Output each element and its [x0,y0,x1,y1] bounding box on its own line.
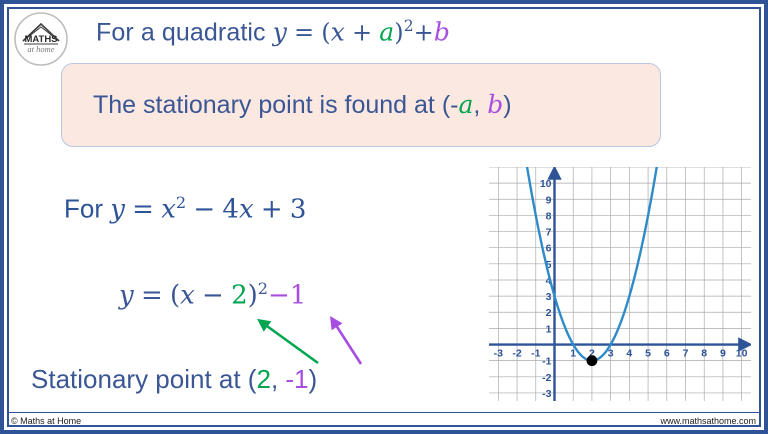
x-axis-tick-label: 5 [645,348,651,360]
title-y: y [273,17,287,46]
stat-lead: Stationary point at ( [31,364,256,394]
eqfor-x2: x [239,195,254,225]
x-axis-tick-label: -1 [531,348,540,360]
eqv-close-paren: ) [248,281,258,311]
y-axis-tick-label: 10 [540,178,552,190]
equation-standard-form: For y = x2 − 4x + 3 [64,193,306,225]
stationary-point-marker [587,355,598,366]
title-x: x [331,17,345,46]
x-axis-tick-label: -2 [512,348,521,360]
eqfor-four: 4 [222,195,239,225]
arrow-to-green-two [260,321,318,363]
title-lead: For a quadratic [96,18,273,46]
title-exponent: 2 [404,17,414,35]
y-axis-tick-label: 7 [546,227,552,239]
eqv-minus: − [202,281,224,311]
eqfor-equals: = [132,195,154,225]
eqv-equals: = [141,281,163,311]
logo-line2: at home [27,44,54,54]
stationary-point-answer: Stationary point at (2, -1) [31,364,317,395]
slide-title: For a quadratic y = (x + a)2+b [96,17,450,47]
y-axis-tick-label: 9 [546,194,552,206]
slide-canvas: MATHS at home For a quadratic y = (x + a… [0,0,768,434]
stationary-point-callout: The stationary point is found at (-a, b) [61,63,661,147]
callout-text: The stationary point is found at (-a, b) [93,90,512,120]
eqv-y: y [119,281,134,311]
callout-comma: , [473,91,487,119]
x-axis-tick-label: -3 [494,348,503,360]
callout-b: b [487,90,503,119]
x-axis-tick-label: 4 [626,348,632,360]
callout-a: a [458,90,473,119]
arrow-to-purple-minus-one [332,319,361,364]
title-a: a [379,17,394,46]
title-b: b [434,17,450,46]
callout-close: ) [503,91,511,119]
stat-comma: , [271,364,285,394]
footer-website: www.mathsathome.com [660,416,756,426]
title-open-paren: ( [321,18,330,46]
stat-close: ) [309,364,318,394]
footer-divider [9,412,759,413]
eqfor-x: x [161,195,176,225]
eqfor-minus: − [193,195,215,225]
x-axis-tick-label: 8 [701,348,707,360]
y-axis-tick-label: 1 [546,323,552,335]
y-axis-tick-label: 8 [546,210,552,222]
y-axis-tick-label: -3 [542,388,551,400]
x-axis-tick-label: 10 [736,348,748,360]
title-plus2: + [414,18,434,46]
eqv-minus-one: −1 [268,281,306,311]
callout-lead: The stationary point is found at (- [93,91,458,119]
eqfor-y: y [110,195,125,225]
parabola-graph: -3-2-11234567891010987654321-1-2-3 [489,167,751,401]
y-axis-tick-label: 6 [546,243,552,255]
stat-x-value: 2 [256,364,270,394]
x-axis-tick-label: 7 [683,348,689,360]
title-close-paren: ) [394,18,403,46]
title-equals: = [294,18,314,46]
footer-copyright: © Maths at Home [11,416,81,426]
eqv-two: 2 [231,281,248,311]
x-axis-tick-label: 6 [664,348,670,360]
title-plus: + [352,18,372,46]
eqv-x: x [180,281,195,311]
parabola-plot: -3-2-11234567891010987654321-1-2-3 [489,167,751,401]
eqfor-plus: + [261,195,283,225]
x-axis-tick-label: 9 [720,348,726,360]
equation-completed-square: y = (x − 2)2−1 [119,279,306,311]
eqv-open-paren: ( [170,281,180,311]
y-axis-tick-label: 3 [546,291,552,303]
maths-at-home-logo: MATHS at home [13,11,69,67]
eqfor-lead: For [64,194,110,224]
eqfor-three: 3 [290,195,307,225]
y-axis-tick-label: -1 [542,356,551,368]
y-axis-tick-label: 2 [546,307,552,319]
y-axis-tick-label: -2 [542,372,551,384]
eqv-exponent: 2 [258,279,268,298]
stat-y-value: -1 [285,364,308,394]
eqfor-exponent: 2 [176,193,186,212]
